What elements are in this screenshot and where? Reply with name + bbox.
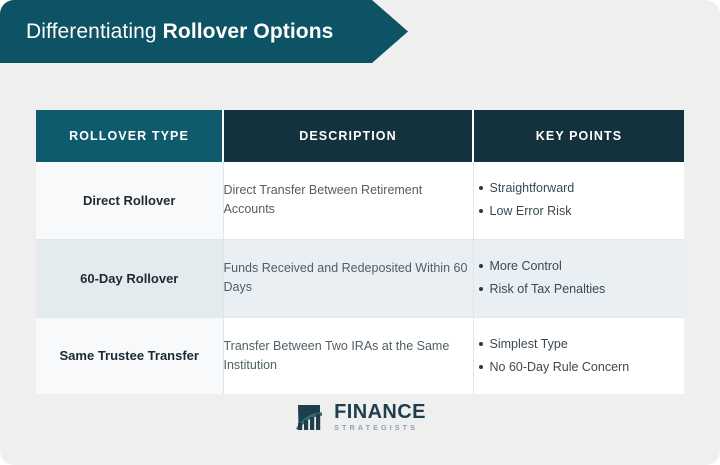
cell-description: Funds Received and Redeposited Within 60… xyxy=(223,239,473,317)
rollover-comparison-table: ROLLOVER TYPE DESCRIPTION KEY POINTS Dir… xyxy=(36,110,684,394)
column-header-rollover-type: ROLLOVER TYPE xyxy=(36,110,223,162)
table-row: 60-Day Rollover Funds Received and Redep… xyxy=(36,239,684,317)
table-row: Same Trustee Transfer Transfer Between T… xyxy=(36,317,684,394)
brand-name: FINANCE xyxy=(334,402,426,422)
cell-description: Direct Transfer Between Retirement Accou… xyxy=(223,162,473,239)
brand-logo: FINANCE STRATEGISTS xyxy=(0,402,720,432)
key-point-item: Low Error Risk xyxy=(490,200,685,223)
brand-tagline: STRATEGISTS xyxy=(334,424,426,431)
table-header-row: ROLLOVER TYPE DESCRIPTION KEY POINTS xyxy=(36,110,684,162)
cell-key-points: Straightforward Low Error Risk xyxy=(473,162,684,239)
key-point-item: Simplest Type xyxy=(490,333,685,356)
header-banner: Differentiating Rollover Options xyxy=(0,0,408,63)
infographic-card: Differentiating Rollover Options ROLLOVE… xyxy=(0,0,720,465)
page-title-regular: Differentiating xyxy=(26,20,163,43)
key-points-list: Simplest Type No 60-Day Rule Concern xyxy=(474,333,685,380)
cell-rollover-type: Direct Rollover xyxy=(36,162,223,239)
cell-key-points: Simplest Type No 60-Day Rule Concern xyxy=(473,317,684,394)
key-point-item: No 60-Day Rule Concern xyxy=(490,356,685,379)
cell-description: Transfer Between Two IRAs at the Same In… xyxy=(223,317,473,394)
page-title: Differentiating Rollover Options xyxy=(0,20,333,44)
key-point-item: Straightforward xyxy=(490,177,685,200)
page-title-bold: Rollover Options xyxy=(163,20,334,43)
key-points-list: Straightforward Low Error Risk xyxy=(474,177,685,224)
key-points-list: More Control Risk of Tax Penalties xyxy=(474,255,685,302)
cell-key-points: More Control Risk of Tax Penalties xyxy=(473,239,684,317)
key-point-item: Risk of Tax Penalties xyxy=(490,278,685,301)
bar-chart-arrow-icon xyxy=(294,402,327,432)
column-header-description: DESCRIPTION xyxy=(223,110,473,162)
brand-logo-text: FINANCE STRATEGISTS xyxy=(334,402,426,431)
column-header-key-points: KEY POINTS xyxy=(473,110,684,162)
key-point-item: More Control xyxy=(490,255,685,278)
cell-rollover-type: Same Trustee Transfer xyxy=(36,317,223,394)
table-row: Direct Rollover Direct Transfer Between … xyxy=(36,162,684,239)
cell-rollover-type: 60-Day Rollover xyxy=(36,239,223,317)
